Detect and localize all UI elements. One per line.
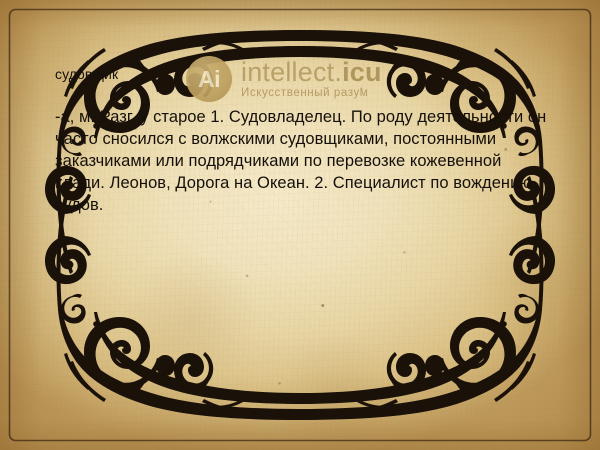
dictionary-entry: судовщик -а, м. Разг. у старое 1. Судовл… bbox=[55, 66, 555, 216]
entry-headword: судовщик bbox=[55, 66, 555, 84]
dictionary-entry-page: Ai intellect.icu Искусственный разум суд… bbox=[0, 0, 600, 450]
entry-definition: -а, м. Разг. у старое 1. Судовладелец. П… bbox=[55, 106, 555, 217]
